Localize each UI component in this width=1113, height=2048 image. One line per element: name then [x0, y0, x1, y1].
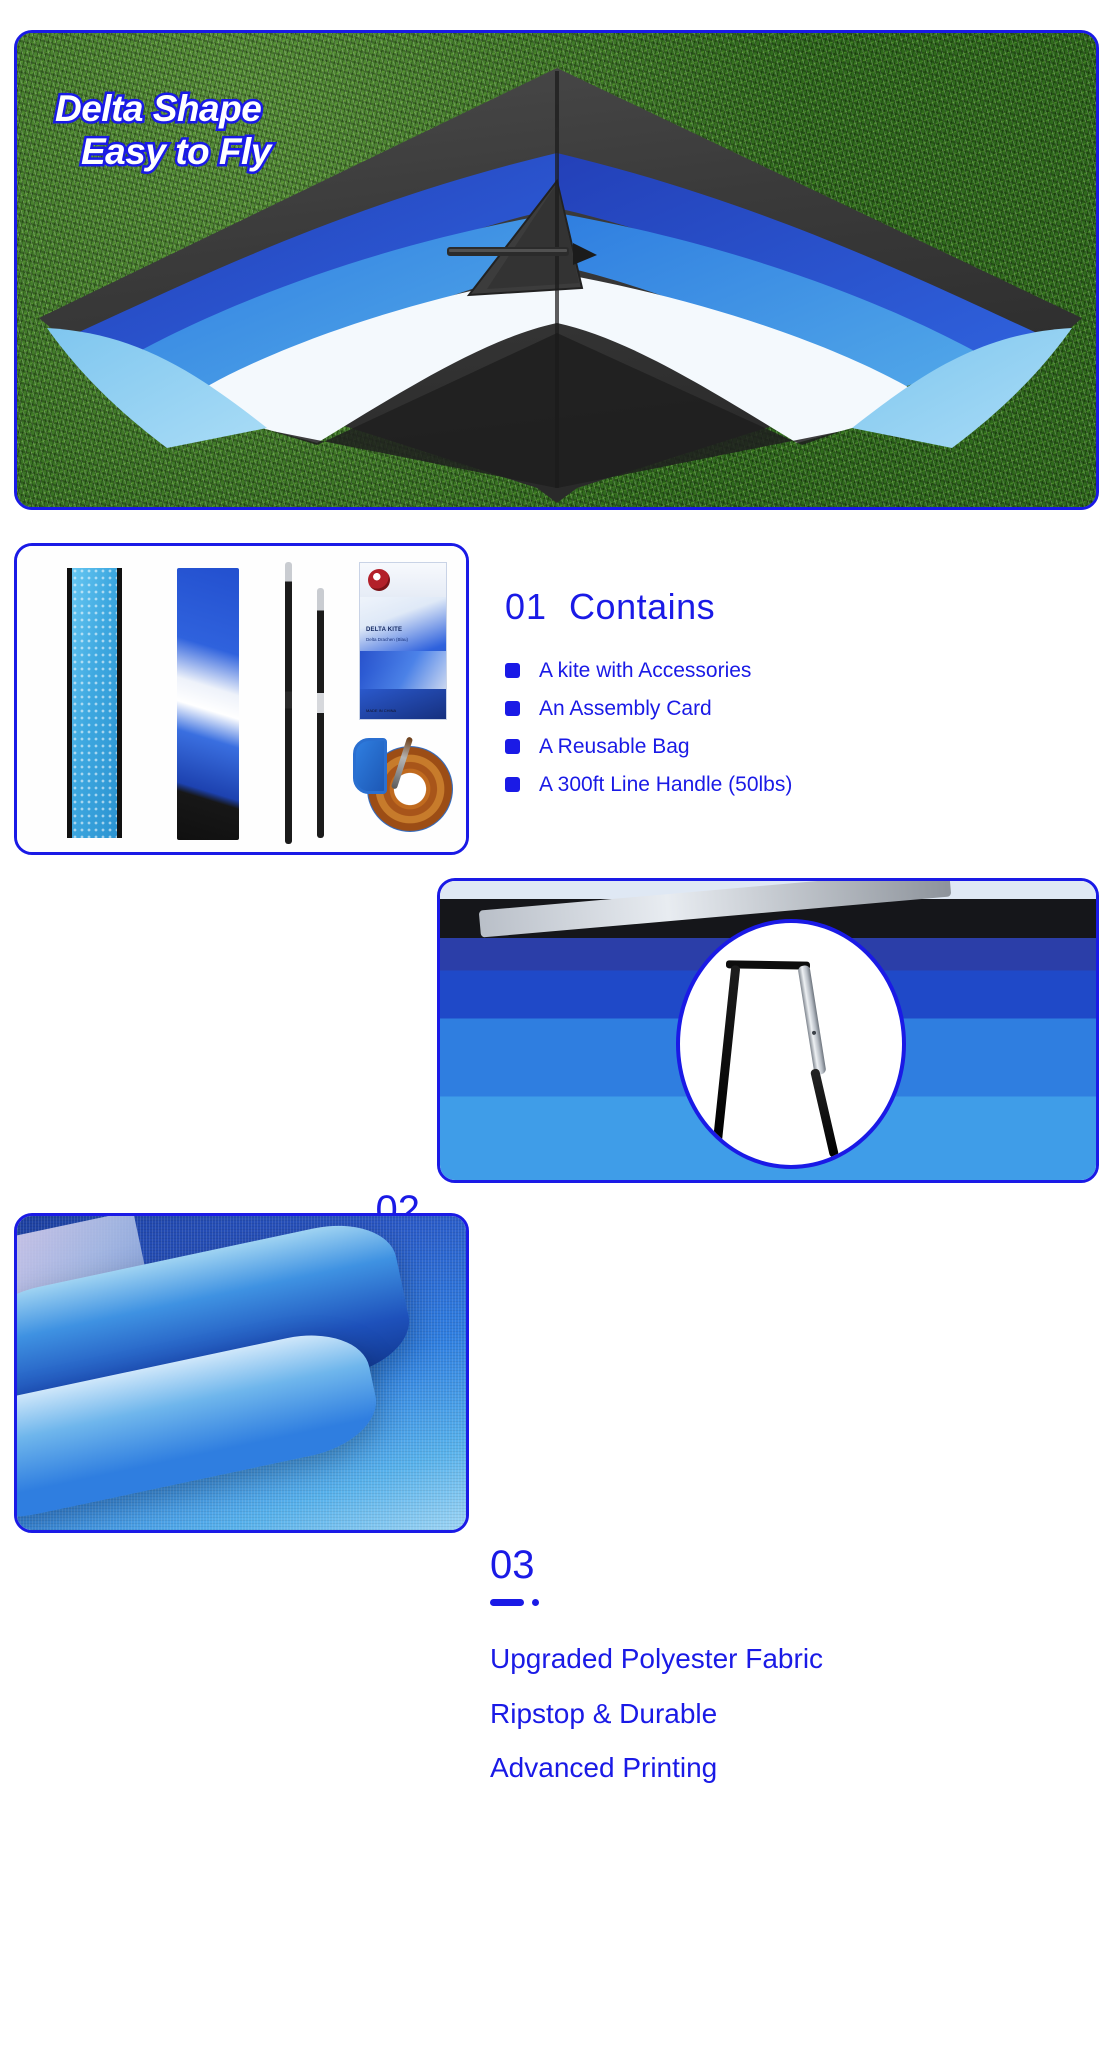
- section-01-heading: 01Contains: [505, 586, 1105, 628]
- product-infographic-page: Delta Shape Easy to Fly DELTA KITE Delta…: [0, 0, 1113, 2048]
- section-02-photo: [437, 878, 1099, 1183]
- section-01-number: 01: [505, 586, 547, 627]
- fiberglass-spine-image: [317, 588, 324, 838]
- section-03-divider: [490, 1599, 1100, 1606]
- hero-photo: Delta Shape Easy to Fly: [14, 30, 1099, 510]
- list-item-label: A Reusable Bag: [539, 736, 690, 757]
- mesh-carry-bag-image: [67, 568, 122, 838]
- section-01-block: 01Contains A kite with Accessories An As…: [505, 586, 1105, 812]
- list-item: A kite with Accessories: [505, 660, 1105, 681]
- card-title-text: DELTA KITE: [366, 627, 402, 633]
- list-item: An Assembly Card: [505, 698, 1105, 719]
- section-03-line-2: Ripstop & Durable: [490, 1687, 1100, 1742]
- instruction-card-image: DELTA KITE Delta Drachen (Blau) MADE IN …: [359, 562, 447, 720]
- bullet-square-icon: [505, 739, 520, 754]
- section-03-line-1: Upgraded Polyester Fabric: [490, 1632, 1100, 1687]
- hero-title-line2: Easy to Fly: [55, 131, 271, 174]
- list-item: A 300ft Line Handle (50lbs): [505, 774, 1105, 795]
- bullet-square-icon: [505, 777, 520, 792]
- list-item-label: An Assembly Card: [539, 698, 712, 719]
- list-item-label: A 300ft Line Handle (50lbs): [539, 774, 792, 795]
- spar-metal-ferrule: [797, 965, 826, 1076]
- section-03-number: 03: [490, 1545, 1100, 1585]
- section-01-title: Contains: [569, 586, 715, 627]
- section-03-line-3: Advanced Printing: [490, 1741, 1100, 1796]
- fiberglass-rod-image: [285, 562, 292, 844]
- list-item: A Reusable Bag: [505, 736, 1105, 757]
- divider-dot-icon: [532, 1599, 539, 1606]
- card-subtitle-text: Delta Drachen (Blau): [366, 637, 408, 642]
- card-color-band: [360, 651, 446, 689]
- card-footer-text: MADE IN CHINA: [366, 708, 396, 713]
- section-03-photo: [14, 1213, 469, 1533]
- spar-lower-black: [810, 1068, 839, 1158]
- folded-kite-sail-image: [177, 568, 239, 840]
- components-photo: DELTA KITE Delta Drachen (Blau) MADE IN …: [14, 543, 469, 855]
- list-item-label: A kite with Accessories: [539, 660, 751, 681]
- handle-grip-icon: [353, 738, 387, 794]
- contains-list: A kite with Accessories An Assembly Card…: [505, 660, 1105, 795]
- section-03-block: 03 Upgraded Polyester Fabric Ripstop & D…: [490, 1545, 1100, 1796]
- spar-left-black: [713, 965, 741, 1145]
- line-handle-image: [347, 734, 457, 842]
- bullet-square-icon: [505, 701, 520, 716]
- divider-dash-icon: [490, 1599, 524, 1606]
- brand-logo-icon: [368, 569, 390, 591]
- hero-title-line1: Delta Shape: [55, 88, 261, 129]
- bullet-square-icon: [505, 663, 520, 678]
- hero-title: Delta Shape Easy to Fly: [55, 88, 271, 174]
- frame-callout-circle: [676, 919, 906, 1169]
